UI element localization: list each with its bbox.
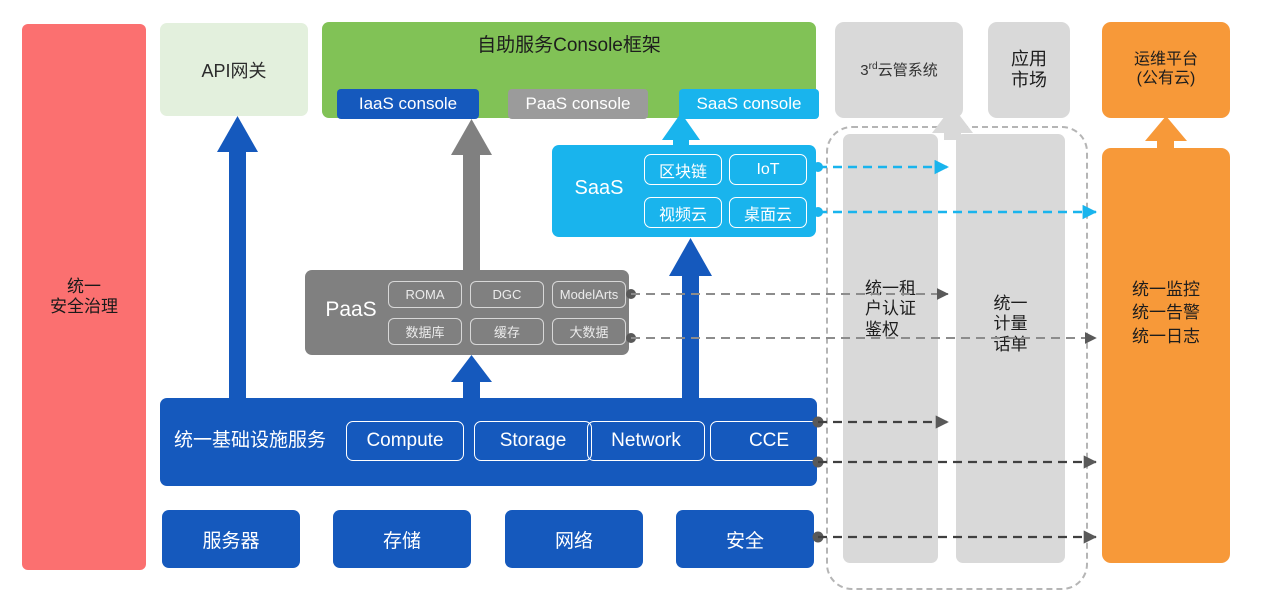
paas-console-chip[interactable]: PaaS console (508, 89, 648, 119)
security-governance-label: 统一 安全治理 (50, 277, 118, 317)
unified-metering-column: 统一 计量 话单 (956, 134, 1065, 563)
saas-chip-blockchain[interactable]: 区块链 (644, 154, 722, 185)
arrow-infra-to-paas (451, 355, 492, 398)
ops-column-line3: 统一日志 (1132, 325, 1200, 348)
security-governance-line1: 统一 (50, 277, 118, 297)
unified-monitoring-label: 统一监控 统一告警 统一日志 (1132, 278, 1200, 348)
iaas-console-chip[interactable]: IaaS console (337, 89, 479, 119)
meter-line1: 统一 (994, 294, 1028, 314)
security-governance-line2: 安全治理 (50, 297, 118, 317)
meter-line2: 计量 (994, 314, 1028, 334)
paas-chip-roma[interactable]: ROMA (388, 281, 462, 308)
infra-chip-network[interactable]: Network (587, 421, 705, 461)
api-gateway-box: API网关 (160, 23, 308, 116)
infra-chip-cce[interactable]: CCE (710, 421, 828, 461)
saas-console-chip[interactable]: SaaS console (679, 89, 819, 119)
api-gateway-label: API网关 (201, 57, 266, 83)
hardware-box-server[interactable]: 服务器 (162, 510, 300, 568)
third-party-cloud-mgmt-label: 3rd云管系统 (860, 61, 937, 80)
security-governance-panel: 统一 安全治理 (22, 24, 146, 570)
console-framework-title: 自助服务Console框架 (322, 30, 816, 57)
app-market-box: 应用 市场 (988, 22, 1070, 118)
arrow-paas-to-console (451, 119, 492, 270)
ops-platform-label: 运维平台 (公有云) (1134, 51, 1198, 89)
ops-platform-box: 运维平台 (公有云) (1102, 22, 1230, 118)
auth-line3: 鉴权 (865, 320, 916, 340)
third-party-superscript: rd (869, 61, 878, 72)
ops-platform-line2: (公有云) (1134, 70, 1198, 89)
paas-chip-cache[interactable]: 缓存 (470, 318, 544, 345)
paas-service-block: PaaS ROMA DGC ModelArts 数据库 缓存 大数据 (305, 270, 629, 355)
unified-tenant-auth-column: 统一租 户认证 鉴权 (843, 134, 938, 563)
saas-service-block: SaaS 区块链 IoT 视频云 桌面云 (552, 145, 816, 237)
ops-column-line1: 统一监控 (1132, 278, 1200, 301)
third-party-suffix: 云管系统 (878, 62, 938, 79)
infra-chip-compute[interactable]: Compute (346, 421, 464, 461)
saas-chip-desktop-cloud[interactable]: 桌面云 (729, 197, 807, 228)
auth-line1: 统一租 (865, 279, 916, 299)
meter-line3: 话单 (994, 335, 1028, 355)
ops-column-line2: 统一告警 (1132, 301, 1200, 324)
third-party-cloud-mgmt-box: 3rd云管系统 (835, 22, 963, 118)
arrow-ops-column-to-ops-box (1145, 116, 1187, 149)
saas-chip-video-cloud[interactable]: 视频云 (644, 197, 722, 228)
infra-chip-storage[interactable]: Storage (474, 421, 592, 461)
saas-chip-iot[interactable]: IoT (729, 154, 807, 185)
arrow-infra-to-saas (669, 238, 712, 398)
paas-chip-modelarts[interactable]: ModelArts (552, 281, 626, 308)
unified-metering-label: 统一 计量 话单 (994, 294, 1028, 355)
unified-infrastructure-label: 统一基础设施服务 (174, 425, 326, 452)
paas-chip-dgc[interactable]: DGC (470, 281, 544, 308)
unified-monitoring-column: 统一监控 统一告警 统一日志 (1102, 148, 1230, 563)
unified-infrastructure-band: 统一基础设施服务 Compute Storage Network CCE (160, 398, 817, 486)
paas-chip-database[interactable]: 数据库 (388, 318, 462, 345)
hardware-box-security[interactable]: 安全 (676, 510, 814, 568)
app-market-label: 应用 市场 (1011, 49, 1047, 91)
third-party-prefix: 3 (860, 62, 868, 79)
auth-line2: 户认证 (865, 299, 916, 319)
paas-block-label: PaaS (315, 298, 387, 322)
hardware-box-network[interactable]: 网络 (505, 510, 643, 568)
unified-tenant-auth-label: 统一租 户认证 鉴权 (865, 279, 916, 340)
app-market-line2: 市场 (1011, 70, 1047, 91)
saas-block-label: SaaS (564, 177, 634, 200)
architecture-diagram: 统一 安全治理 API网关 自助服务Console框架 IaaS console… (0, 0, 1265, 605)
arrow-infra-to-api-gateway (210, 116, 258, 398)
hardware-box-storage[interactable]: 存储 (333, 510, 471, 568)
ops-platform-line1: 运维平台 (1134, 51, 1198, 70)
paas-chip-bigdata[interactable]: 大数据 (552, 318, 626, 345)
console-framework-box: 自助服务Console框架 IaaS console PaaS console … (322, 22, 816, 118)
app-market-line1: 应用 (1011, 49, 1047, 70)
